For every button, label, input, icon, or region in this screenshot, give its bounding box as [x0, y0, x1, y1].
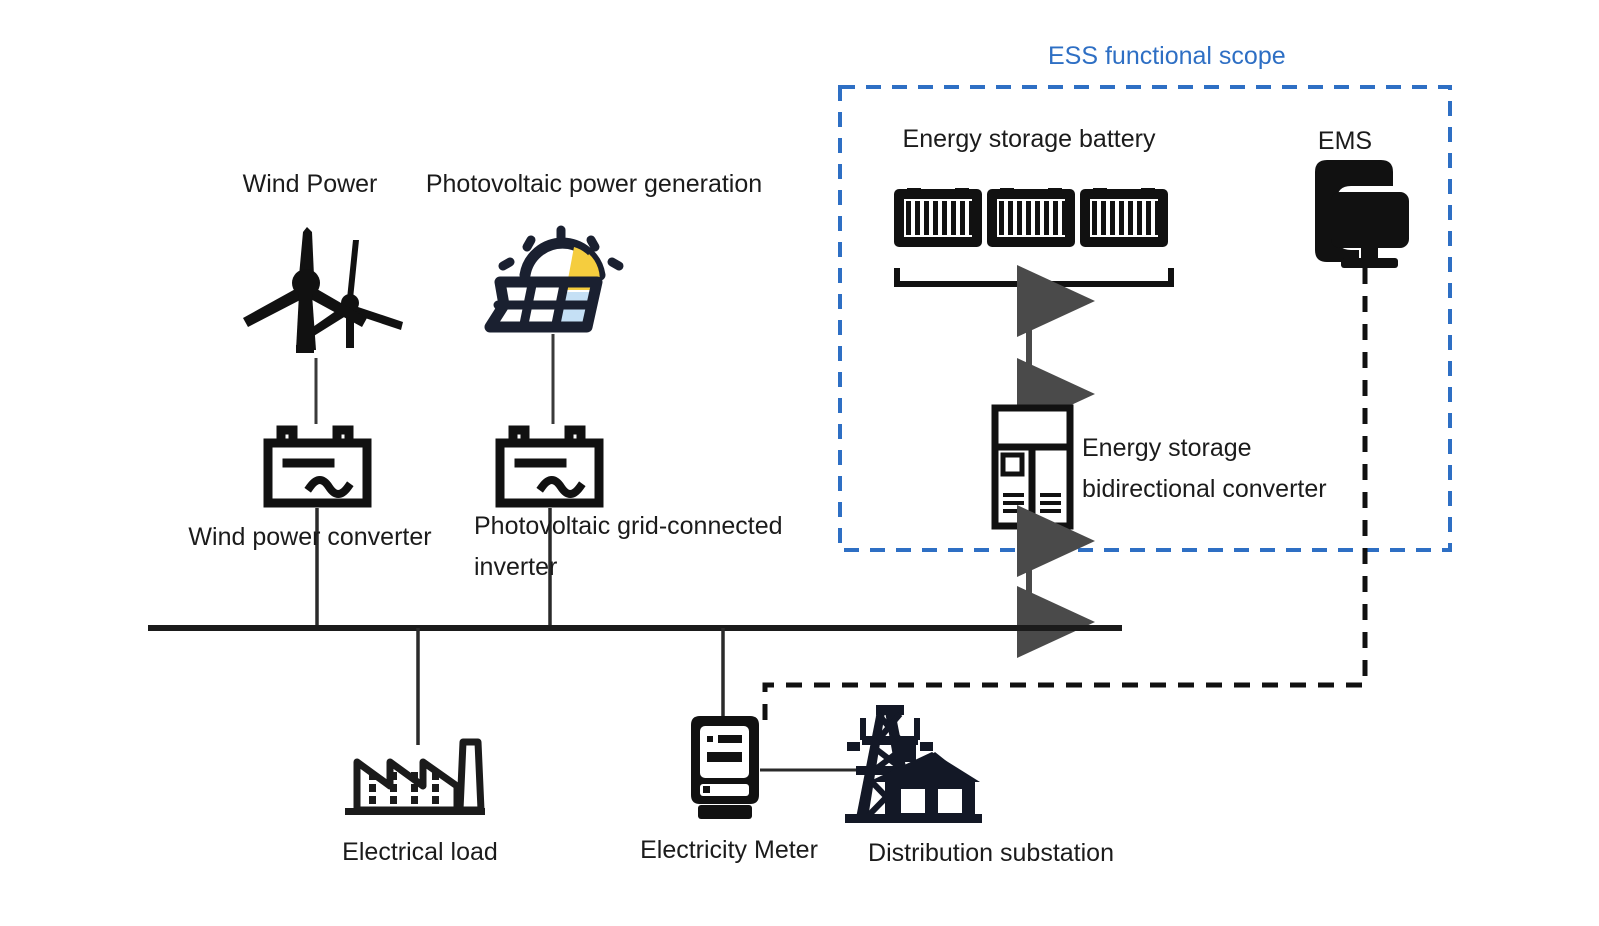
label-converter-line2: bidirectional converter — [1082, 473, 1327, 505]
label-energy-storage-battery: Energy storage battery — [903, 123, 1156, 155]
battery-module-icon — [899, 188, 1163, 242]
ac-inverter-icon — [500, 430, 599, 503]
converter-cabinet-icon — [995, 408, 1070, 526]
label-distribution-substation: Distribution substation — [868, 837, 1114, 869]
label-pv-inverter-line1: Photovoltaic grid-connected — [474, 510, 783, 542]
computer-monitors-icon — [1315, 160, 1409, 268]
label-converter-line1: Energy storage — [1082, 432, 1252, 464]
label-pv-inverter-line2: inverter — [474, 551, 557, 583]
label-electricity-meter: Electricity Meter — [640, 834, 818, 866]
electricity-meter-icon — [691, 716, 759, 819]
ac-converter-icon — [268, 430, 367, 503]
label-wind-converter: Wind power converter — [188, 521, 431, 553]
diagram-canvas: ESS functional scope Wind Power Photovol… — [0, 0, 1599, 926]
factory-icon — [345, 742, 485, 815]
solar-panel-icon — [490, 230, 619, 327]
wind-turbine-icon — [243, 227, 403, 353]
label-electrical-load: Electrical load — [342, 836, 498, 868]
ess-scope-title: ESS functional scope — [1048, 42, 1286, 71]
battery-bus-bracket — [897, 268, 1171, 284]
label-wind-power: Wind Power — [243, 168, 378, 200]
label-pv-generation: Photovoltaic power generation — [426, 168, 762, 200]
label-ems: EMS — [1318, 125, 1372, 157]
